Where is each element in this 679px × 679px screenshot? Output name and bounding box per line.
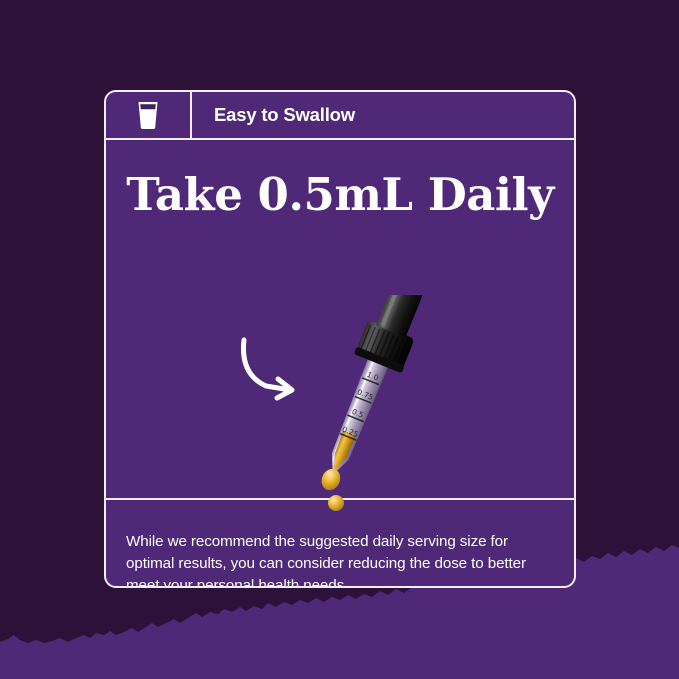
card-header-title: Easy to Swallow <box>214 104 355 126</box>
headline-text: Take 0.5mL Daily <box>106 168 574 221</box>
product-infographic-canvas: Easy to Swallow Take 0.5mL Daily <box>0 0 679 679</box>
drinking-glass-icon <box>135 100 161 130</box>
header-title-cell: Easy to Swallow <box>192 92 574 138</box>
card-footer: While we recommend the suggested daily s… <box>106 500 574 588</box>
header-icon-cell <box>106 92 192 138</box>
card-header: Easy to Swallow <box>106 92 574 140</box>
glass-dropper-illustration: 1.0 0.75 0.5 0.25 <box>274 295 444 525</box>
benefit-card: Easy to Swallow Take 0.5mL Daily <box>104 90 576 588</box>
card-body: Take 0.5mL Daily <box>106 140 574 500</box>
dosage-note: While we recommend the suggested daily s… <box>126 531 554 588</box>
